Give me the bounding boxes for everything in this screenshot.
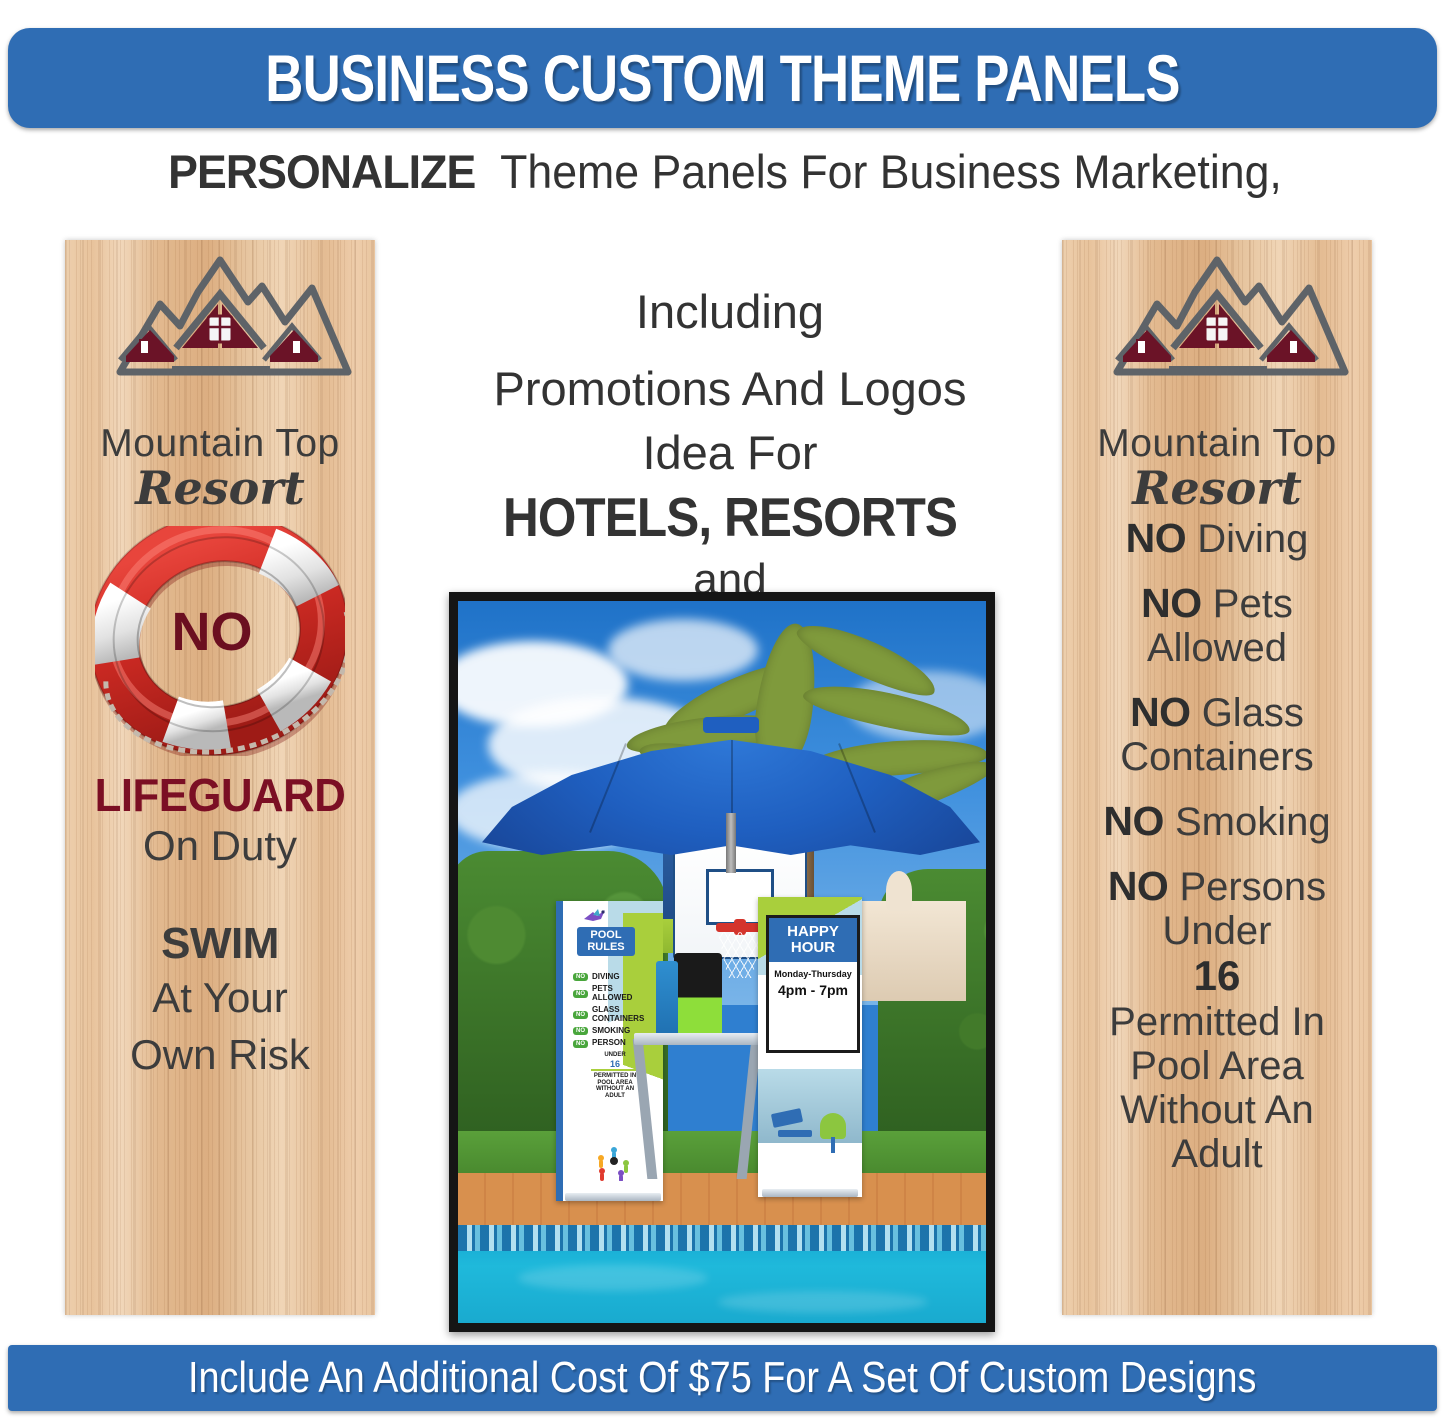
banner-rules-head-2: RULES — [577, 942, 635, 954]
rule-text: Glass — [1202, 691, 1304, 735]
rule-pets: NO Pets Allowed — [1072, 581, 1362, 670]
lifeguard-title: LIFEGUARD — [73, 772, 368, 818]
banner-no-pill: NO — [573, 1011, 588, 1019]
logo-name-right: Mountain Top — [1062, 424, 1372, 463]
lounge-chair-graphic — [778, 1130, 812, 1137]
intro-line1-rest: Theme Panels For Business Marketing, — [500, 145, 1282, 198]
rules-list: NO Diving NO Pets Allowed NO Glass Conta… — [1062, 516, 1372, 1176]
rule-age-value: 16 — [1072, 953, 1362, 999]
pool-ripple — [718, 1291, 928, 1313]
intro-line4: Idea For — [420, 421, 1040, 484]
pool-ripple — [518, 1265, 708, 1291]
ring-no-label: NO — [172, 602, 253, 662]
intro-headline: PERSONALIZE Theme Panels For Business Ma… — [40, 146, 1410, 198]
rule-text: Persons — [1179, 865, 1326, 909]
banner-rule-text: SMOKING — [592, 1027, 630, 1035]
banner-rules-header: POOL RULES — [577, 927, 635, 956]
rule-text-line2: Under — [1072, 909, 1362, 953]
banner-base — [565, 1193, 661, 1201]
banner-rule-text: PETS ALLOWED — [592, 985, 632, 1002]
pool-tile-border — [458, 1225, 986, 1251]
cloud — [608, 619, 758, 681]
banner-rule-text: GLASS CONTAINERS — [592, 1006, 644, 1023]
intro-line3: Promotions And Logos — [420, 357, 1040, 420]
rule-foot3: Without An — [1072, 1088, 1362, 1132]
rule-no-label: NO — [1108, 863, 1169, 909]
life-ring-graphic: NO — [65, 526, 375, 766]
happy-hour-times: 4pm - 7pm — [769, 983, 857, 998]
happy-head-2: HOUR — [769, 940, 857, 956]
bottle-display — [656, 961, 678, 1039]
rule-foot1: Permitted In — [1072, 1000, 1362, 1044]
rule-foot2: Pool Area — [1072, 1044, 1362, 1088]
rule-no-label: NO — [1130, 689, 1191, 735]
intro-emphasis: PERSONALIZE — [168, 145, 475, 198]
sunnys-brand-logo-icon — [591, 1139, 637, 1181]
rule-foot4: Adult — [1072, 1132, 1362, 1176]
happy-hour-header: HAPPY HOUR — [769, 918, 857, 962]
poster-canvas: BUSINESS CUSTOM THEME PANELS PERSONALIZE… — [0, 0, 1445, 1418]
rule-no-label: NO — [1103, 798, 1164, 844]
towel-display — [674, 953, 722, 1039]
swim-line1: At Your — [65, 974, 375, 1022]
banner-rule: NO DIVING — [573, 973, 657, 981]
intro-line2: Including — [420, 280, 1040, 343]
panel-pool-rules[interactable]: Mountain Top Resort NO Diving NO Pets Al… — [1062, 240, 1372, 1315]
banner-base — [762, 1189, 858, 1197]
banner-rule-l2: CONTAINERS — [592, 1014, 644, 1023]
resort-logo-left: Mountain Top Resort — [65, 252, 375, 502]
banner-no-pill: NO — [573, 1027, 588, 1035]
banner-rule-l2: ALLOWED — [592, 993, 632, 1002]
logo-sub-right: Resort — [1062, 465, 1372, 511]
lifeguard-subtitle: On Duty — [65, 822, 375, 870]
mountain-cabin-logo-icon — [1077, 252, 1357, 428]
banner-no-pill: NO — [573, 1040, 588, 1048]
rule-text: Smoking — [1175, 800, 1331, 844]
drink-graphic — [820, 1113, 846, 1139]
swim-title: SWIM — [65, 922, 375, 966]
banner-no-pill: NO — [573, 990, 588, 998]
rule-no-label: NO — [1126, 515, 1187, 561]
page-title: BUSINESS CUSTOM THEME PANELS — [265, 45, 1179, 111]
swim-line2: Own Risk — [65, 1031, 375, 1079]
rule-diving: NO Diving — [1072, 516, 1362, 561]
rule-age: NO Persons Under 16 Permitted In Pool Ar… — [1072, 864, 1362, 1175]
banner-rule-text: PERSON — [592, 1039, 626, 1047]
umbrella-pole — [726, 813, 736, 873]
logo-sub-left: Resort — [65, 465, 375, 511]
rule-glass: NO Glass Containers — [1072, 690, 1362, 779]
rule-text-line2: Allowed — [1072, 626, 1362, 670]
happy-hour-banner[interactable]: HAPPY HOUR Monday-Thursday 4pm - 7pm — [758, 897, 862, 1197]
banner-rules-head-1: POOL — [577, 930, 635, 942]
happy-hour-days: Monday-Thursday — [769, 970, 857, 980]
banner-rule-text: DIVING — [592, 973, 620, 981]
drink-stem — [831, 1137, 835, 1153]
rule-text: Pets — [1213, 582, 1293, 626]
product-photo[interactable]: POOL RULES NO DIVING NO PETS ALLOWED — [449, 592, 995, 1332]
happy-hour-sign: HAPPY HOUR Monday-Thursday 4pm - 7pm — [766, 915, 860, 1053]
life-ring-icon: NO — [95, 526, 345, 756]
logo-name-left: Mountain Top — [65, 424, 375, 463]
photo-scene: POOL RULES NO DIVING NO PETS ALLOWED — [458, 601, 986, 1323]
rule-text: Diving — [1197, 517, 1308, 561]
resort-logo-right: Mountain Top Resort — [1062, 252, 1372, 502]
intro-hotels-resorts: HOTELS, RESORTS — [451, 484, 1009, 550]
banner-rule: NO PETS ALLOWED — [573, 985, 657, 1002]
header-banner: BUSINESS CUSTOM THEME PANELS — [8, 28, 1437, 128]
footer-text: Include An Additional Cost Of $75 For A … — [188, 1356, 1257, 1400]
umbrella-finial — [703, 717, 759, 733]
rule-smoking: NO Smoking — [1072, 799, 1362, 844]
rule-text-line2: Containers — [1072, 735, 1362, 779]
stand-base — [634, 1033, 762, 1045]
mountain-cabin-logo-icon — [80, 252, 360, 428]
swimming-pool — [458, 1225, 986, 1323]
footer-banner: Include An Additional Cost Of $75 For A … — [8, 1345, 1437, 1411]
villa — [856, 901, 966, 1001]
hummingbird-icon — [581, 907, 607, 927]
panel-lifeguard[interactable]: Mountain Top Resort — [65, 240, 375, 1315]
banner-no-pill: NO — [573, 973, 588, 981]
happy-head-1: HAPPY — [769, 924, 857, 940]
rule-no-label: NO — [1141, 580, 1202, 626]
banner-age-value: 16 — [591, 1059, 639, 1071]
banner-rule: NO GLASS CONTAINERS — [573, 1006, 657, 1023]
